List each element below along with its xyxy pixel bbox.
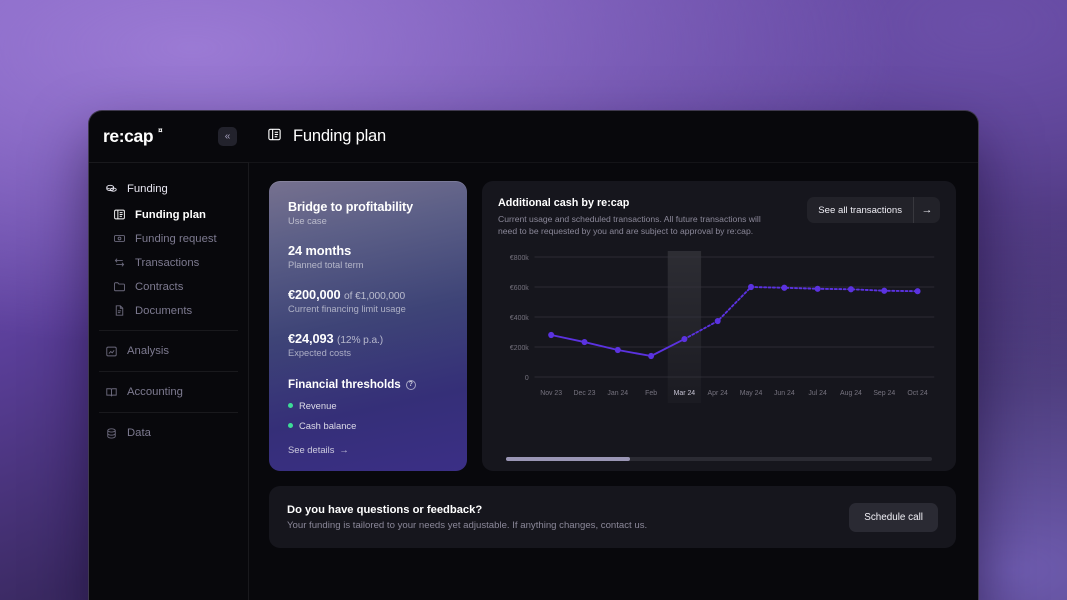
svg-text:Jun 24: Jun 24 xyxy=(774,390,795,397)
svg-text:Nov 23: Nov 23 xyxy=(540,390,562,397)
schedule-call-button[interactable]: Schedule call xyxy=(849,503,938,532)
svg-text:Mar 24: Mar 24 xyxy=(674,390,696,397)
financial-thresholds-label: Financial thresholds xyxy=(288,378,401,391)
sidebar-item-label: Data xyxy=(127,427,151,439)
svg-text:0: 0 xyxy=(525,375,529,382)
sidebar: Funding Funding plan xyxy=(89,163,249,600)
chart-scrollbar-thumb[interactable] xyxy=(506,457,630,461)
sidebar-item-analysis[interactable]: Analysis xyxy=(99,339,238,363)
chart-scrollbar[interactable] xyxy=(506,457,932,461)
chart-square-icon xyxy=(105,345,118,358)
plan-term-block: 24 months Planned total term xyxy=(288,243,449,270)
sidebar-item-label: Contracts xyxy=(135,281,183,293)
arrow-right-icon: → xyxy=(339,444,348,455)
chevron-left-double-icon: « xyxy=(225,131,231,142)
plan-limit-block: €200,000 of €1,000,000 Current financing… xyxy=(288,287,449,314)
plan-term-value: 24 months xyxy=(288,243,449,258)
help-icon[interactable]: ? xyxy=(406,380,416,390)
chart-header: Additional cash by re:cap Current usage … xyxy=(498,197,940,237)
sidebar-section-data: Data xyxy=(89,421,248,445)
sidebar-item-label: Accounting xyxy=(127,386,183,398)
feedback-banner-title: Do you have questions or feedback? xyxy=(287,504,647,516)
svg-text:Jan 24: Jan 24 xyxy=(607,390,628,397)
plan-limit-of: of €1,000,000 xyxy=(344,291,405,302)
svg-text:€800k: €800k xyxy=(510,255,529,262)
svg-text:Feb: Feb xyxy=(645,390,657,397)
see-all-transactions-label: See all transactions xyxy=(807,197,913,223)
plan-limit-value: €200,000 xyxy=(288,287,341,302)
top-row: Bridge to profitability Use case 24 mont… xyxy=(269,181,956,471)
plan-term-label: Planned total term xyxy=(288,260,449,270)
svg-text:May 24: May 24 xyxy=(740,390,763,397)
plan-title-sub: Use case xyxy=(288,216,449,226)
legend-label: Revenue xyxy=(299,400,337,411)
coins-icon xyxy=(105,182,118,195)
see-details-label: See details xyxy=(288,444,334,455)
svg-text:Apr 24: Apr 24 xyxy=(708,390,728,397)
feedback-banner: Do you have questions or feedback? Your … xyxy=(269,486,956,548)
sidebar-item-data[interactable]: Data xyxy=(99,421,238,445)
svg-text:€400k: €400k xyxy=(510,315,529,322)
sidebar-section-accounting: Accounting xyxy=(89,380,248,404)
sidebar-item-label: Funding request xyxy=(135,233,217,245)
article-icon xyxy=(267,127,282,147)
app-window: re:cap¤ « Funding plan xyxy=(88,110,979,600)
plan-costs-value: €24,093 xyxy=(288,331,334,346)
sidebar-collapse-button[interactable]: « xyxy=(218,127,237,146)
brand-zone: re:cap¤ « xyxy=(89,111,249,163)
sidebar-divider xyxy=(99,371,238,372)
database-icon xyxy=(105,427,118,440)
sidebar-section-analysis: Analysis xyxy=(89,339,248,363)
main-content: Bridge to profitability Use case 24 mont… xyxy=(249,163,978,600)
transfer-icon xyxy=(113,256,126,269)
see-details-link[interactable]: See details → xyxy=(288,444,449,455)
legend-dot-icon xyxy=(288,403,293,408)
svg-text:Aug 24: Aug 24 xyxy=(840,390,862,397)
chart-card: Additional cash by re:cap Current usage … xyxy=(482,181,956,471)
sidebar-divider xyxy=(99,412,238,413)
chart-plot-area: 0€200k€400k€600k€800kNov 23Dec 23Jan 24F… xyxy=(498,251,940,448)
article-icon xyxy=(113,208,126,221)
sidebar-item-label: Documents xyxy=(135,305,192,317)
logo[interactable]: re:cap¤ xyxy=(103,126,162,147)
svg-text:Dec 23: Dec 23 xyxy=(574,390,596,397)
page-title: Funding plan xyxy=(293,127,386,146)
svg-text:€600k: €600k xyxy=(510,285,529,292)
topbar: re:cap¤ « Funding plan xyxy=(89,111,978,163)
svg-text:€200k: €200k xyxy=(510,345,529,352)
sidebar-item-funding-plan[interactable]: Funding plan xyxy=(99,203,238,226)
sidebar-item-funding-request[interactable]: Funding request xyxy=(99,227,238,250)
book-icon xyxy=(105,386,118,399)
sidebar-item-documents[interactable]: Documents xyxy=(99,299,238,322)
svg-text:Sep 24: Sep 24 xyxy=(873,390,895,397)
logo-text: re:cap xyxy=(103,126,153,146)
feedback-banner-text: Do you have questions or feedback? Your … xyxy=(287,504,647,531)
sidebar-item-label: Transactions xyxy=(135,257,199,269)
page-header: Funding plan xyxy=(249,111,978,163)
plan-costs-label: Expected costs xyxy=(288,348,449,358)
legend-item-revenue: Revenue xyxy=(288,400,449,411)
arrow-right-icon: → xyxy=(913,197,940,223)
plan-costs-block: €24,093 (12% p.a.) Expected costs xyxy=(288,331,449,358)
logo-mark-icon: ¤ xyxy=(158,127,162,135)
plan-title: Bridge to profitability xyxy=(288,200,449,214)
chart-description: Current usage and scheduled transactions… xyxy=(498,213,768,237)
sidebar-item-label: Analysis xyxy=(127,345,169,357)
sidebar-item-transactions[interactable]: Transactions xyxy=(99,251,238,274)
plan-costs-rate: (12% p.a.) xyxy=(337,335,383,346)
sidebar-divider xyxy=(99,330,238,331)
sidebar-item-contracts[interactable]: Contracts xyxy=(99,275,238,298)
line-chart[interactable]: 0€200k€400k€600k€800kNov 23Dec 23Jan 24F… xyxy=(498,251,940,403)
sidebar-group-label-text: Funding xyxy=(127,183,168,195)
sidebar-item-label: Funding plan xyxy=(135,209,206,221)
chart-title: Additional cash by re:cap xyxy=(498,197,768,209)
sidebar-group-label-funding[interactable]: Funding xyxy=(99,177,238,200)
see-all-transactions-button[interactable]: See all transactions → xyxy=(807,197,940,223)
sidebar-group-funding: Funding Funding plan xyxy=(89,177,248,322)
funding-plan-card: Bridge to profitability Use case 24 mont… xyxy=(269,181,467,471)
folder-icon xyxy=(113,280,126,293)
feedback-banner-subtitle: Your funding is tailored to your needs y… xyxy=(287,520,647,531)
plan-limit-label: Current financing limit usage xyxy=(288,304,449,314)
financial-thresholds-heading: Financial thresholds ? xyxy=(288,378,449,391)
legend-label: Cash balance xyxy=(299,420,356,431)
legend-item-cash-balance: Cash balance xyxy=(288,420,449,431)
chart-header-text: Additional cash by re:cap Current usage … xyxy=(498,197,768,237)
svg-text:Jul 24: Jul 24 xyxy=(808,390,827,397)
legend-dot-icon xyxy=(288,423,293,428)
sidebar-item-accounting[interactable]: Accounting xyxy=(99,380,238,404)
svg-text:Oct 24: Oct 24 xyxy=(907,390,927,397)
document-icon xyxy=(113,304,126,317)
banknote-icon xyxy=(113,232,126,245)
